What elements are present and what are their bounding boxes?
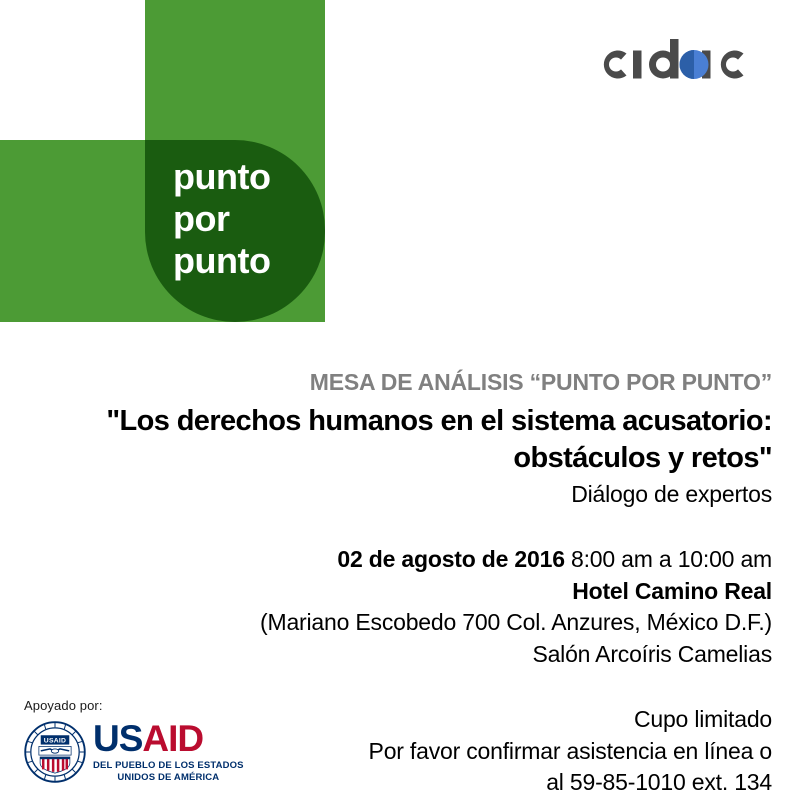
event-room: Salón Arcoíris Camelias	[20, 639, 772, 671]
brand-logo-line-1: punto	[173, 156, 270, 197]
cidac-logo	[592, 30, 772, 90]
punto-por-punto-brand-mark: punto por punto	[0, 0, 340, 340]
event-subtitle: Diálogo de expertos	[20, 480, 772, 510]
dark-green-rounded-shape: punto por punto	[145, 140, 325, 322]
usaid-wordmark-group: USAID DEL PUEBLO DE LOS ESTADOS UNIDOS D…	[93, 720, 244, 784]
event-title: "Los derechos humanos en el sistema acus…	[20, 403, 772, 478]
event-time: 8:00 am a 10:00 am	[571, 546, 772, 572]
usaid-sponsor-block: Apoyado por:	[24, 698, 274, 784]
usaid-tagline: DEL PUEBLO DE LOS ESTADOS UNIDOS DE AMÉR…	[93, 760, 244, 784]
usaid-tagline-line-1: DEL PUEBLO DE LOS ESTADOS	[93, 760, 244, 772]
brand-logo-text: punto por punto	[173, 156, 270, 282]
svg-text:USAID: USAID	[44, 737, 66, 744]
event-address: (Mariano Escobedo 700 Col. Anzures, Méxi…	[20, 607, 772, 639]
usaid-logo: USAID USAID DE	[24, 720, 274, 784]
usaid-wordmark: USAID	[93, 720, 244, 757]
event-venue: Hotel Camino Real	[20, 576, 772, 608]
event-details: 02 de agosto de 2016 8:00 am a 10:00 am …	[20, 544, 772, 670]
event-kicker: MESA DE ANÁLISIS “PUNTO POR PUNTO”	[20, 368, 772, 397]
brand-logo-line-2: por	[173, 198, 230, 239]
usaid-word-us: US	[93, 718, 142, 759]
usaid-word-aid: AID	[142, 718, 203, 759]
event-title-line-1: "Los derechos humanos en el sistema	[106, 405, 614, 437]
usaid-seal-icon: USAID	[24, 721, 86, 783]
usaid-tagline-line-2: UNIDOS DE AMÉRICA	[93, 772, 244, 784]
brand-logo-line-3: punto	[173, 240, 270, 281]
supported-by-label: Apoyado por:	[24, 698, 274, 713]
event-datetime: 02 de agosto de 2016 8:00 am a 10:00 am	[20, 544, 772, 576]
event-date: 02 de agosto de 2016	[337, 546, 564, 572]
